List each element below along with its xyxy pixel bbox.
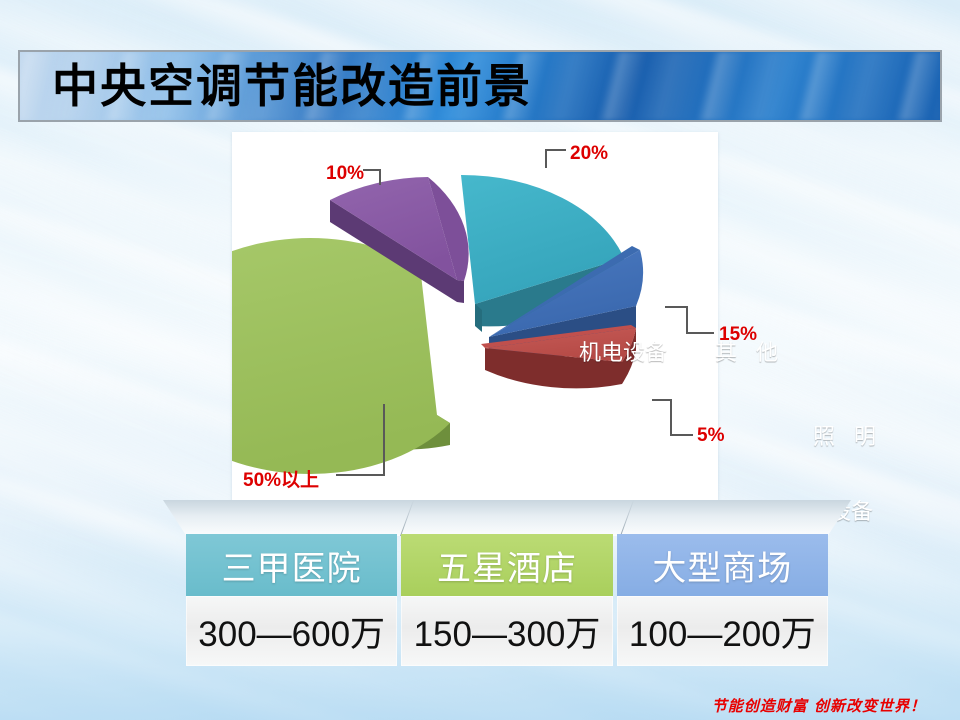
callout-percent-central-ac: 50%以上 — [243, 465, 319, 492]
table-header-hotel: 五星酒店 — [401, 534, 612, 596]
footer-slogan: 节能创造财富 创新改变世界！ — [712, 695, 926, 716]
slice-label-lighting: 照 明 — [813, 419, 882, 451]
title-banner: 中央空调节能改造前景 — [18, 50, 942, 122]
callout-percent-electromechanical: 10% — [326, 163, 364, 185]
pie-chart-svg — [232, 132, 718, 504]
slide-canvas: 中央空调节能改造前景 — [0, 0, 960, 720]
table-top-seam-1 — [400, 500, 414, 536]
table-value-hotel: 150—300万 — [401, 596, 612, 666]
table-grid: 三甲医院 五星酒店 大型商场 300—600万 150—300万 100—200… — [186, 534, 828, 666]
table-3d-top-face — [163, 500, 851, 536]
table-value-hospital: 300—600万 — [186, 596, 397, 666]
comparison-table: 三甲医院 五星酒店 大型商场 300—600万 150—300万 100—200… — [163, 500, 851, 675]
table-header-hospital: 三甲医院 — [186, 534, 397, 596]
table-header-mall: 大型商场 — [617, 534, 828, 596]
pie-chart: 机电设备 其 他 照 明 供水设备 中央空调 — [232, 132, 718, 504]
table-top-seam-2 — [620, 500, 634, 536]
callout-percent-lighting: 15% — [719, 324, 757, 346]
callout-percent-other: 20% — [570, 143, 608, 165]
page-title: 中央空调节能改造前景 — [52, 63, 532, 109]
table-value-mall: 100—200万 — [617, 596, 828, 666]
callout-percent-water-supply: 5% — [697, 425, 724, 447]
